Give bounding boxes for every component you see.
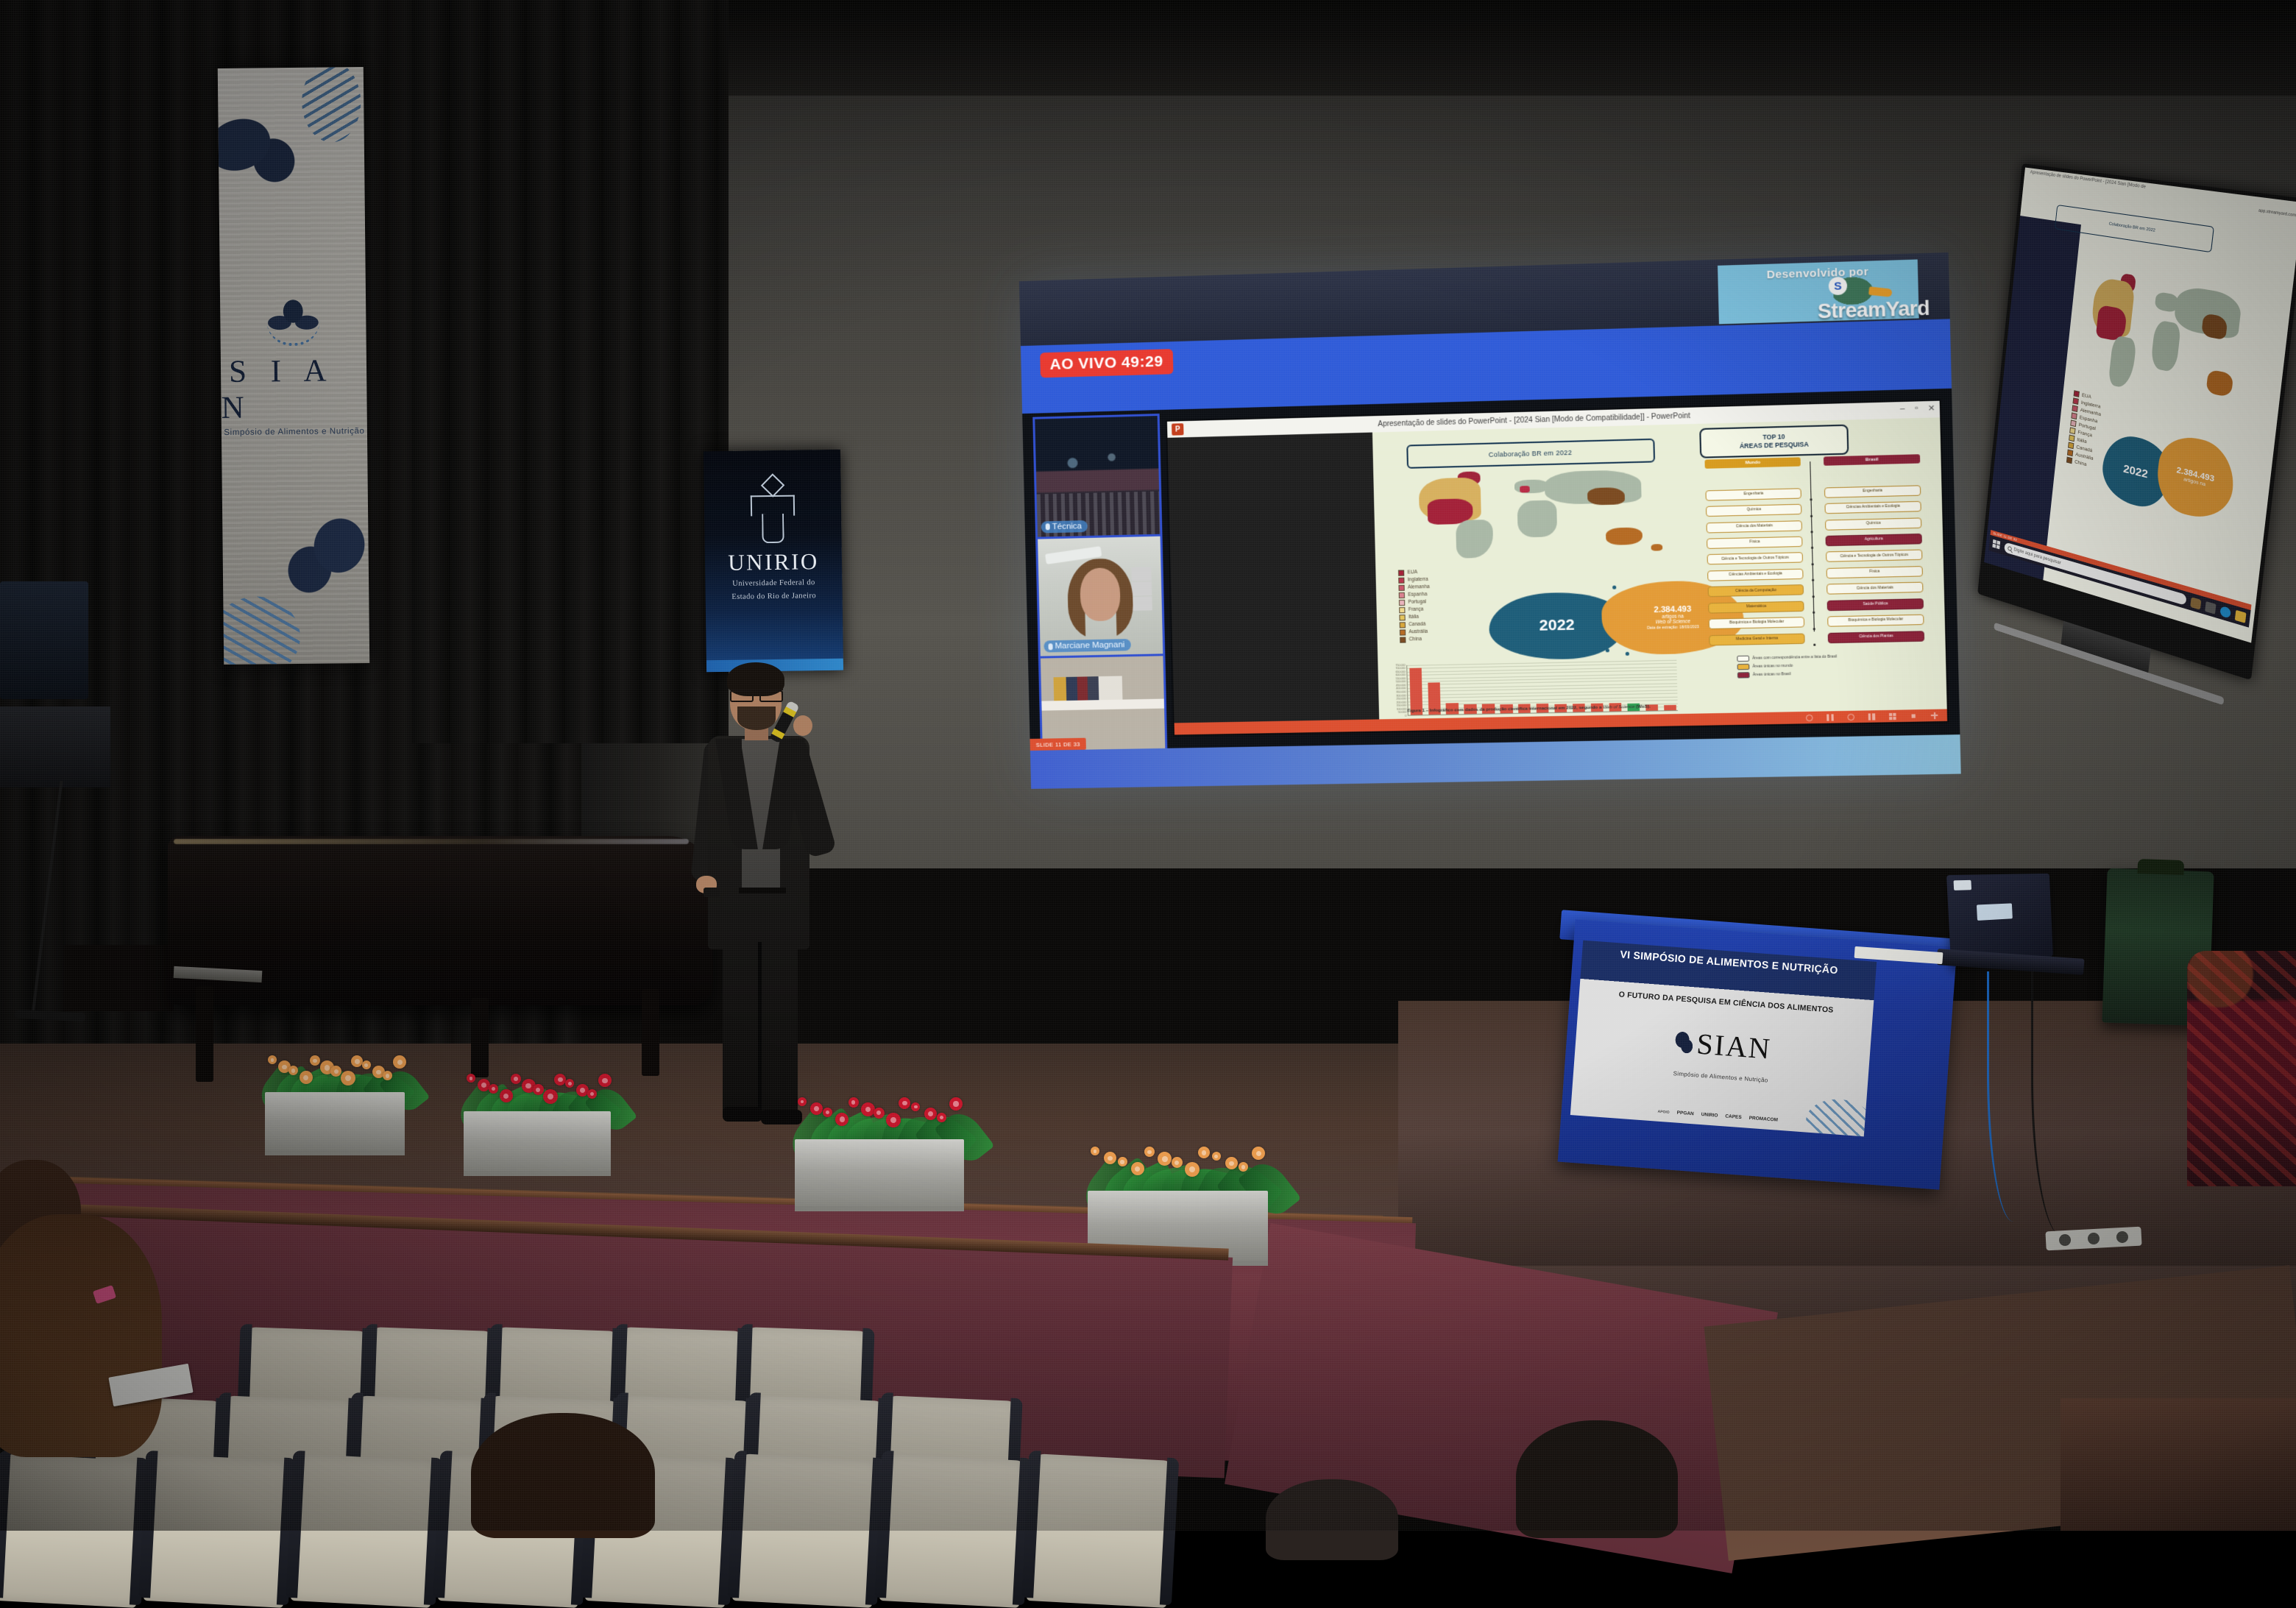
secondary-monitor: Apresentação de slides do PowerPoint - [… bbox=[1977, 163, 2296, 680]
legend-label: Áreas únicas no mundo bbox=[1752, 664, 1793, 669]
flower-bloom bbox=[949, 1097, 963, 1111]
audience-member bbox=[1516, 1420, 1678, 1538]
legend-label: Áreas com correspondência entre a lista … bbox=[1752, 655, 1837, 661]
sian-vertical-banner: S I A N Simpósio de Alimentos e Nutrição bbox=[218, 67, 369, 665]
flower-bloom bbox=[937, 1113, 946, 1122]
legend-swatch bbox=[1400, 637, 1406, 642]
eyeglasses bbox=[730, 689, 783, 698]
streamyard-wordmark: StreamYard bbox=[1818, 297, 1930, 323]
piano-lid-highlight bbox=[174, 839, 689, 844]
flower-planter bbox=[265, 1092, 405, 1151]
explorer-icon[interactable] bbox=[2235, 609, 2247, 623]
y-axis-tick: 350.000 bbox=[1396, 690, 1406, 693]
piano-bench bbox=[63, 945, 174, 1011]
legend-swatch bbox=[1399, 592, 1405, 598]
presenter-hand-right bbox=[793, 715, 812, 736]
leaf-decor-icon bbox=[218, 94, 313, 199]
y-axis-tick: 0 bbox=[1405, 715, 1406, 718]
legend-label: China bbox=[1409, 637, 1422, 642]
legend-swatch bbox=[1737, 673, 1750, 679]
slide-counter: SLIDE 11 DE 33 bbox=[1030, 738, 1086, 751]
flow-connector-dot bbox=[1813, 628, 1815, 630]
power-socket bbox=[2058, 1234, 2071, 1247]
stage-equipment bbox=[0, 581, 88, 699]
legend-label: Austrália bbox=[1409, 629, 1428, 635]
table-banner: VI SIMPÓSIO DE ALIMENTOS E NUTRIÇÃO O FU… bbox=[1570, 941, 1877, 1137]
legend-swatch bbox=[2070, 420, 2076, 428]
legend-swatch bbox=[2072, 398, 2078, 405]
flow-node-brazil: Ciências Ambientais e Ecologia bbox=[1825, 501, 1921, 514]
flower-bloom bbox=[300, 1071, 313, 1084]
legend-swatch bbox=[2069, 428, 2075, 435]
legend-swatch bbox=[2066, 457, 2072, 464]
audience-seat bbox=[143, 1453, 291, 1608]
unirio-logo-icon bbox=[750, 477, 795, 545]
y-axis-tick: 100.000 bbox=[1397, 707, 1406, 710]
top10-title-line2: ÁREAS DE PESQUISA bbox=[1740, 441, 1809, 450]
leaf-icon bbox=[1674, 1030, 1695, 1054]
seated-attendee bbox=[2187, 951, 2296, 1186]
legend-swatch bbox=[2069, 435, 2074, 442]
monitor-stat-bubble: 2.384.493 artigos na bbox=[2154, 431, 2237, 525]
presenter bbox=[684, 662, 832, 1148]
y-axis-ticks: 050.000100.000150.000200.000250.000300.0… bbox=[1389, 665, 1407, 715]
flower-bloom bbox=[511, 1074, 521, 1084]
flow-node-world: Ciência da Computação bbox=[1708, 584, 1804, 597]
powerpoint-icon: P bbox=[1172, 423, 1183, 435]
sponsor-logo: PROMACOM bbox=[1748, 1116, 1778, 1123]
y-axis-tick: 550.000 bbox=[1396, 677, 1406, 680]
tile-video-feed bbox=[1035, 416, 1160, 536]
flower-bloom bbox=[1212, 1152, 1221, 1161]
audience-seat bbox=[291, 1453, 438, 1608]
audience-member bbox=[0, 1214, 162, 1457]
flow-node-world: Ciências Ambientais e Ecologia bbox=[1707, 568, 1804, 581]
top10-title-line1: TOP 10 bbox=[1762, 433, 1785, 442]
slide-header-box: Colaboração BR em 2022 bbox=[1406, 439, 1655, 469]
table-banner-subtitle: O FUTURO DA PESQUISA EM CIÊNCIA DOS ALIM… bbox=[1579, 988, 1874, 1018]
legend-swatch bbox=[1737, 656, 1749, 662]
presentation-slide: Colaboração BR em 2022 TOP 10 ÁREAS DE P… bbox=[1372, 417, 1947, 731]
flower-bloom bbox=[861, 1102, 875, 1116]
y-axis-tick: 50.000 bbox=[1398, 711, 1406, 714]
y-axis-tick: 750.000 bbox=[1395, 663, 1405, 666]
flower-bloom bbox=[1118, 1157, 1127, 1166]
flow-node-brazil: Bioquímica e Biologia Molecular bbox=[1827, 614, 1924, 627]
shared-screen-window: P Apresentação de slides do PowerPoint -… bbox=[1167, 401, 1947, 735]
flower-bloom bbox=[886, 1113, 901, 1127]
participant-name: Técnica bbox=[1052, 522, 1083, 531]
audience-seat bbox=[879, 1453, 1027, 1608]
flow-connector-dot bbox=[1810, 514, 1813, 517]
zoom-icon[interactable] bbox=[1889, 712, 1896, 719]
maximize-icon[interactable]: ▫ bbox=[1915, 404, 1918, 414]
legend-swatch bbox=[2071, 413, 2077, 420]
stat-number: 2.384.493 bbox=[1654, 605, 1691, 614]
stage-curtain-center bbox=[412, 0, 729, 743]
leaf-decor-icon bbox=[273, 502, 369, 611]
monitor-screen: Apresentação de slides do PowerPoint - [… bbox=[1984, 168, 2296, 643]
slideshow-letterbox bbox=[1167, 433, 1379, 735]
legend-swatch bbox=[1400, 622, 1406, 628]
top10-comparison-flowchart: Mundo Brasil EngenhariaQuímicaCiência do… bbox=[1700, 454, 1934, 677]
unirio-subtitle-line2: Estado do Rio de Janeiro bbox=[731, 591, 816, 603]
audience-member bbox=[1266, 1479, 1398, 1560]
y-axis-tick: 650.000 bbox=[1396, 670, 1406, 673]
flow-node-brazil: Engenharia bbox=[1824, 485, 1921, 498]
sian-emblem-icon bbox=[262, 295, 325, 347]
flower-bloom bbox=[533, 1084, 544, 1095]
flow-connector-dot bbox=[1812, 595, 1814, 598]
y-axis-tick: 450.000 bbox=[1396, 684, 1406, 687]
flow-node-world: Matemática bbox=[1708, 601, 1804, 613]
flow-node-brazil: Ciência dos Plantas bbox=[1828, 631, 1924, 643]
flow-legend-row: Áreas únicas no Brasil bbox=[1737, 669, 1921, 679]
browser-url: app.streamyard.com bbox=[2258, 208, 2296, 218]
y-axis-tick: 600.000 bbox=[1396, 673, 1406, 676]
flow-node-world: Química bbox=[1706, 504, 1802, 517]
laser-pointer-icon[interactable] bbox=[1910, 712, 1917, 719]
sian-wordmark: S I A N bbox=[221, 352, 367, 425]
flow-node-world: Ciência e Tecnologia de Outros Tópicos bbox=[1707, 553, 1804, 565]
minimize-icon[interactable]: – bbox=[1900, 404, 1905, 414]
planter-box bbox=[464, 1111, 611, 1172]
power-socket bbox=[2088, 1233, 2100, 1245]
sponsor-logo: CAPES bbox=[1725, 1114, 1742, 1121]
unirio-wordmark: UNIRIO bbox=[728, 548, 819, 576]
audience-seat bbox=[732, 1453, 879, 1608]
sponsor-logo: PPGAN bbox=[1676, 1111, 1694, 1117]
y-axis-tick: 700.000 bbox=[1396, 667, 1406, 670]
more-options-icon[interactable] bbox=[1931, 712, 1938, 718]
flow-connector-dot bbox=[1812, 579, 1814, 581]
start-icon[interactable] bbox=[1992, 539, 2001, 550]
previous-slide-icon[interactable] bbox=[1806, 714, 1813, 720]
legend-swatch bbox=[1400, 629, 1406, 635]
flow-node-world: Ciência dos Materiais bbox=[1707, 520, 1803, 533]
next-slide-icon[interactable] bbox=[1826, 714, 1834, 720]
map-legend-row: China bbox=[1400, 634, 1489, 644]
live-badge: AO VIVO 49:29 bbox=[1040, 349, 1173, 378]
flower-bloom bbox=[500, 1089, 513, 1102]
flower-planter bbox=[795, 1139, 964, 1207]
legend-label: Itália bbox=[1409, 614, 1419, 620]
legend-swatch bbox=[1737, 664, 1749, 670]
flow-node-brazil: Saúde Pública bbox=[1827, 598, 1924, 611]
dna-helix-decor-icon bbox=[1804, 1097, 1874, 1137]
planter-box bbox=[265, 1092, 405, 1151]
legend-swatch bbox=[2068, 442, 2074, 450]
y-axis-tick: 300.000 bbox=[1396, 694, 1406, 697]
participant-name: Marciane Magnani bbox=[1055, 641, 1124, 651]
participant-name-badge: Marciane Magnani bbox=[1044, 639, 1130, 652]
legend-label: França bbox=[1409, 607, 1424, 613]
flower-bloom bbox=[810, 1102, 823, 1115]
flow-node-brazil: Ciência e Tecnologia de Outros Tópicos bbox=[1826, 550, 1922, 562]
task-view-icon[interactable] bbox=[2190, 597, 2201, 610]
power-socket bbox=[2116, 1231, 2129, 1244]
task-view-icon[interactable] bbox=[2205, 601, 2216, 614]
audience-member bbox=[471, 1413, 655, 1538]
microphone-icon bbox=[1046, 523, 1050, 530]
legend-label: EUA bbox=[1407, 570, 1417, 575]
edge-icon[interactable] bbox=[2219, 605, 2231, 618]
legend-label: Canadá bbox=[1409, 622, 1425, 628]
legend-swatch bbox=[1400, 614, 1406, 620]
presentation-clicker bbox=[704, 888, 720, 897]
flow-connector-dot bbox=[1810, 498, 1812, 500]
flow-column-header-world: Mundo bbox=[1705, 458, 1801, 470]
stage-equipment bbox=[0, 706, 110, 787]
sian-subtitle: Simpósio de Alimentos e Nutrição bbox=[224, 426, 364, 436]
legend-swatch bbox=[1399, 607, 1405, 613]
world-map-graphic bbox=[1402, 467, 1686, 570]
legend-swatch bbox=[2072, 405, 2077, 413]
legend-label: Áreas únicas no Brasil bbox=[1753, 673, 1791, 678]
flower-planter bbox=[464, 1111, 611, 1172]
flow-connector-dot bbox=[1813, 612, 1815, 614]
auditorium-scene: S I A N Simpósio de Alimentos e Nutrição… bbox=[0, 0, 2296, 1531]
stage-ramp-wall bbox=[2061, 1398, 2296, 1531]
flower-bloom bbox=[848, 1097, 859, 1108]
audience-seat bbox=[0, 1453, 143, 1608]
map-legend: EUAInglaterraAlemanhaEspanhaPortugalFran… bbox=[1398, 567, 1489, 644]
flow-node-world: Física bbox=[1707, 536, 1803, 549]
pen-tool-icon[interactable] bbox=[1847, 713, 1854, 720]
flow-node-brazil: Física bbox=[1826, 566, 1923, 578]
table-banner-wordmark: SIAN bbox=[1696, 1026, 1773, 1066]
y-axis-tick: 200.000 bbox=[1397, 701, 1406, 704]
legend-label: Inglaterra bbox=[1408, 577, 1428, 583]
legend-swatch bbox=[1398, 578, 1404, 584]
unirio-banner: UNIRIO Universidade Federal do Estado do… bbox=[704, 450, 843, 673]
participant-name-badge: Técnica bbox=[1041, 520, 1088, 534]
streamyard-broadcast-view: Desenvolvido por S StreamYard AO VIVO 49… bbox=[1019, 252, 1961, 789]
legend-label: Alemanha bbox=[1408, 584, 1430, 590]
projection-screen: Desenvolvido por S StreamYard AO VIVO 49… bbox=[1019, 252, 1961, 789]
flower-bloom bbox=[798, 1097, 807, 1106]
stat-line3: Data de extração: 18/03/2023 bbox=[1647, 625, 1699, 631]
legend-label: China bbox=[2074, 459, 2087, 467]
flow-connector-dot bbox=[1811, 563, 1813, 565]
legend-swatch bbox=[2073, 391, 2079, 398]
planter-box bbox=[795, 1139, 964, 1207]
legend-swatch bbox=[1399, 600, 1405, 606]
flow-node-brazil: Agricultura bbox=[1826, 534, 1922, 546]
audience-seat bbox=[1027, 1453, 1174, 1608]
legend-label: Espanha bbox=[1408, 592, 1427, 598]
legend-label: Portugal bbox=[1408, 600, 1426, 606]
participant-tile[interactable]: Marciane Magnani bbox=[1038, 536, 1163, 656]
flow-node-brazil: Ciência dos Materiais bbox=[1826, 582, 1923, 595]
unirio-subtitle-line1: Universidade Federal do bbox=[732, 578, 815, 589]
figure-caption-italic: Web of Science bbox=[1603, 704, 1634, 709]
flow-node-world: Engenharia bbox=[1706, 488, 1802, 500]
flower-bloom bbox=[362, 1060, 371, 1069]
table-banner-logo: SIAN bbox=[1575, 1017, 1871, 1073]
flow-node-world: Bioquímica e Biologia Molecular bbox=[1709, 617, 1805, 629]
flowchart-legend: Áreas com correspondência entre a lista … bbox=[1737, 653, 1921, 681]
window-controls[interactable]: – ▫ ✕ bbox=[1900, 403, 1935, 414]
window-body: Colaboração BR em 2022 TOP 10 ÁREAS DE P… bbox=[1167, 417, 1947, 734]
y-axis-tick: 150.000 bbox=[1397, 704, 1406, 707]
participant-tiles: Técnica Marciane Magnani bbox=[1032, 414, 1168, 779]
legend-swatch bbox=[2066, 450, 2072, 457]
legend-swatch bbox=[1399, 585, 1405, 591]
sponsor-logo: UNIRIO bbox=[1701, 1113, 1718, 1119]
flow-column-header-brazil: Brasil bbox=[1824, 454, 1920, 466]
legend-swatch bbox=[1398, 570, 1404, 575]
flower-bloom bbox=[489, 1084, 498, 1094]
stat-line2: Web of Science bbox=[1656, 619, 1690, 625]
y-axis-tick: 400.000 bbox=[1396, 687, 1406, 690]
flow-node-brazil: Química bbox=[1825, 517, 1921, 530]
flow-connector-dot bbox=[1810, 531, 1813, 533]
figure-caption-end: (WoS). bbox=[1636, 704, 1651, 709]
dna-helix-decor-icon bbox=[218, 596, 301, 665]
flow-node-world: Medicina Geral e Interna bbox=[1709, 633, 1805, 645]
all-slides-icon[interactable] bbox=[1868, 713, 1876, 720]
y-axis-tick: 250.000 bbox=[1397, 697, 1406, 700]
tile-video-feed bbox=[1038, 536, 1163, 656]
close-icon[interactable]: ✕ bbox=[1928, 403, 1935, 414]
flower-bloom bbox=[874, 1108, 885, 1119]
flow-connector-dot bbox=[1813, 644, 1815, 646]
y-axis-tick: 500.000 bbox=[1396, 680, 1406, 683]
top10-title-box: TOP 10 ÁREAS DE PESQUISA bbox=[1699, 425, 1849, 458]
search-icon bbox=[2008, 546, 2012, 551]
participant-tile[interactable]: Técnica bbox=[1035, 416, 1160, 536]
flower-bloom bbox=[924, 1108, 937, 1120]
dna-helix-decor-icon bbox=[302, 67, 361, 143]
microphone-icon bbox=[1048, 643, 1052, 650]
